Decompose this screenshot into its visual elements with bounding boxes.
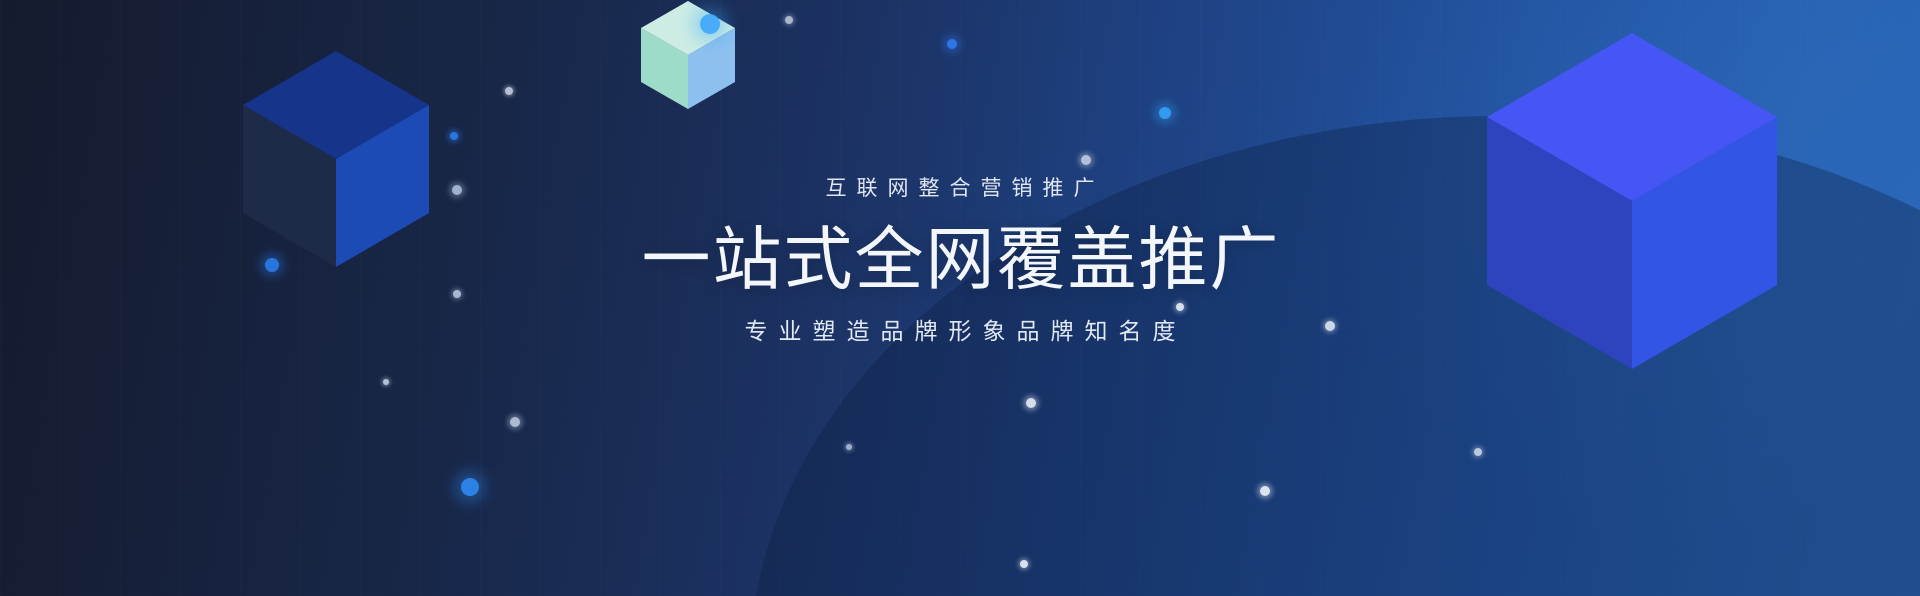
cube-left-dark-top-face xyxy=(243,51,429,159)
dot-small-blue xyxy=(947,39,957,49)
cube-top-mint-left-face xyxy=(641,28,688,109)
dot-blue-2 xyxy=(450,132,458,140)
dot-pale-9 xyxy=(1474,448,1482,456)
hero-subline: 专业塑造品牌形象品牌知名度 xyxy=(0,320,1920,343)
dot-glow-cyan-large xyxy=(700,14,720,34)
hero-banner: 互联网整合营销推广 一站式全网覆盖推广 专业塑造品牌形象品牌知名度 xyxy=(0,0,1920,596)
dot-white-3 xyxy=(1020,560,1028,568)
dot-pale-8 xyxy=(510,417,520,427)
hero-headline: 一站式全网覆盖推广 xyxy=(0,225,1920,294)
cube-right-bright-top-face xyxy=(1487,33,1777,201)
cube-top-mint-svg xyxy=(641,1,735,109)
dot-white-2 xyxy=(1260,486,1270,496)
dot-glow-blue-bottom xyxy=(461,478,479,496)
dot-pale-6 xyxy=(383,379,389,385)
dot-small-grey xyxy=(785,16,793,24)
dot-pale-3 xyxy=(1159,107,1171,119)
cube-top-mint xyxy=(641,1,735,109)
dot-pale-4 xyxy=(1081,155,1091,165)
dot-pale-7 xyxy=(1026,398,1036,408)
cube-top-mint-top-face xyxy=(641,1,735,55)
hero-text-block: 互联网整合营销推广 一站式全网覆盖推广 专业塑造品牌形象品牌知名度 xyxy=(0,178,1920,343)
dot-pale-1 xyxy=(505,87,513,95)
dot-pale-11 xyxy=(846,444,852,450)
cube-top-mint-right-face xyxy=(688,28,735,109)
hero-eyebrow: 互联网整合营销推广 xyxy=(0,178,1920,199)
